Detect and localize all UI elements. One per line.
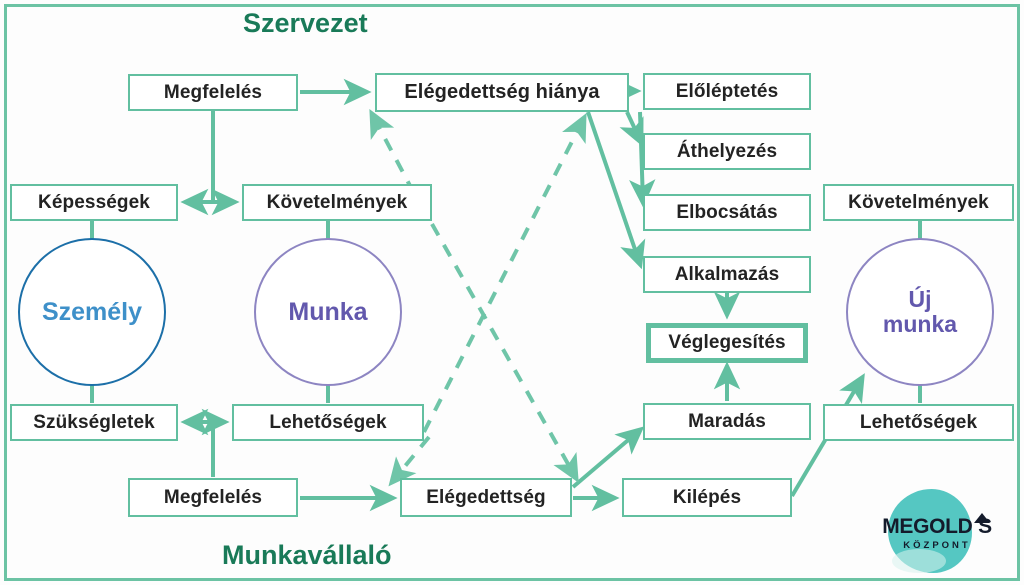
edge-dashed-to-elegedettseg-left [392, 437, 429, 482]
box-megfeleles-bottom[interactable]: Megfelelés [128, 478, 298, 517]
circle-job[interactable]: Munka [254, 238, 402, 386]
circle-new-job[interactable]: Új munka [846, 238, 994, 386]
box-alkalmazas[interactable]: Alkalmazás [643, 256, 811, 293]
logo-megoldas-kozpont[interactable]: MEGOLD S KÖZPONT [862, 487, 1012, 575]
box-kilepes[interactable]: Kilépés [622, 478, 792, 517]
box-elbocsatas[interactable]: Elbocsátás [643, 194, 811, 231]
box-athelyezes[interactable]: Áthelyezés [643, 133, 811, 170]
logo-blob-highlight-icon [892, 549, 946, 573]
box-veglegesites[interactable]: Véglegesítés [646, 323, 808, 363]
box-lehetosegek[interactable]: Lehetőségek [232, 404, 424, 441]
box-elegedettseg-hianya[interactable]: Elégedettség hiánya [375, 73, 629, 112]
diagram-canvas: Szervezet Munkavállaló Megfelelés Eléged… [0, 0, 1024, 585]
edge-dashed-lehetosegek-to-hianya [424, 118, 584, 432]
edge-hianya-to-alkalmazas [588, 112, 640, 264]
logo-subtitle: KÖZPONT [862, 540, 1012, 551]
box-megfeleles-top[interactable]: Megfelelés [128, 74, 298, 111]
box-szuksegletek[interactable]: Szükségletek [10, 404, 178, 441]
title-employee: Munkavállaló [222, 540, 392, 571]
box-maradas[interactable]: Maradás [643, 403, 811, 440]
circle-person[interactable]: Személy [18, 238, 166, 386]
edge-dashed-kovetelmenyek-to-elegedettseg [432, 224, 576, 478]
box-kovetelmenyek-right[interactable]: Követelmények [823, 184, 1014, 221]
box-kepessegek[interactable]: Képességek [10, 184, 178, 221]
title-organization: Szervezet [243, 8, 368, 39]
circle-new-job-line1: Új [909, 287, 932, 312]
box-elegedettseg[interactable]: Elégedettség [400, 478, 572, 517]
box-lehetosegek-right[interactable]: Lehetőségek [823, 404, 1014, 441]
box-kovetelmenyek[interactable]: Követelmények [242, 184, 432, 221]
circle-new-job-line2: munka [883, 312, 957, 337]
house-roof-icon [974, 513, 990, 523]
box-eloleptetes[interactable]: Előléptetés [643, 73, 811, 110]
